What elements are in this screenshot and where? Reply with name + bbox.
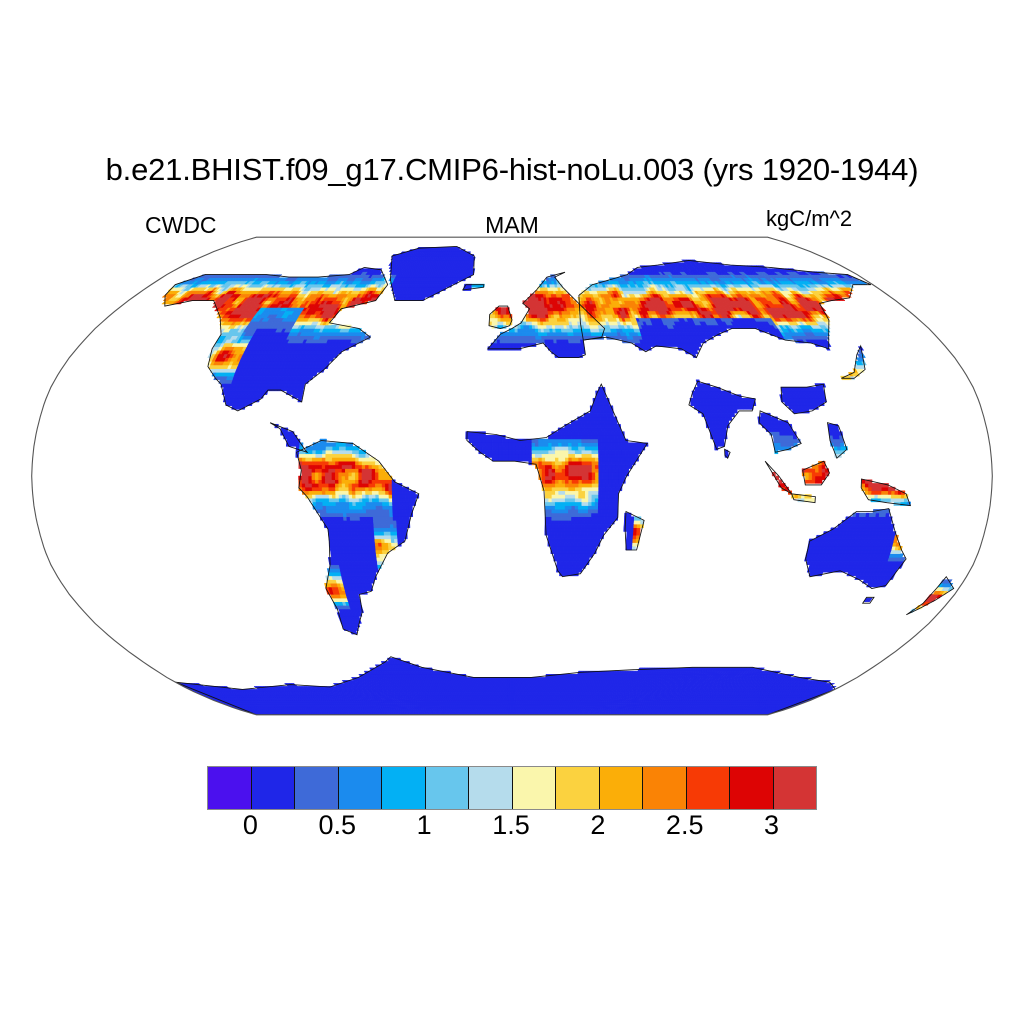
- colorbar[interactable]: [207, 766, 817, 810]
- units-label: kgC/m^2: [766, 206, 852, 232]
- colorbar-swatch-12: [730, 767, 774, 809]
- colorbar-swatch-0: [208, 767, 252, 809]
- figure-title: b.e21.BHIST.f09_g17.CMIP6-hist-noLu.003 …: [0, 152, 1024, 188]
- colorbar-swatch-4: [382, 767, 426, 809]
- figure-canvas: b.e21.BHIST.f09_g17.CMIP6-hist-noLu.003 …: [0, 0, 1024, 1024]
- colorbar-swatch-10: [643, 767, 687, 809]
- colorbar-tick-labels: 00.511.522.53: [207, 810, 815, 850]
- colorbar-swatch-6: [469, 767, 513, 809]
- colorbar-tick-0: 0: [243, 810, 258, 840]
- map-panel: [30, 236, 994, 716]
- colorbar-swatch-2: [295, 767, 339, 809]
- colorbar-tick-2.5: 2.5: [666, 810, 704, 840]
- colorbar-tick-1.5: 1.5: [492, 810, 530, 840]
- colorbar-swatch-7: [513, 767, 557, 809]
- colorbar-swatch-11: [687, 767, 731, 809]
- colorbar-swatch-1: [252, 767, 296, 809]
- data-grid-cells: [162, 247, 954, 715]
- colorbar-tick-1: 1: [417, 810, 432, 840]
- colorbar-tick-3: 3: [764, 810, 779, 840]
- colorbar-swatch-3: [339, 767, 383, 809]
- robinson-map: [30, 236, 994, 716]
- colorbar-swatch-9: [600, 767, 644, 809]
- colorbar-tick-0.5: 0.5: [319, 810, 357, 840]
- projection-outline: [32, 237, 993, 715]
- season-label: MAM: [0, 212, 1024, 239]
- colorbar-swatch-13: [774, 767, 817, 809]
- colorbar-swatch-5: [426, 767, 470, 809]
- colorbar-tick-2: 2: [590, 810, 605, 840]
- colorbar-swatch-8: [556, 767, 600, 809]
